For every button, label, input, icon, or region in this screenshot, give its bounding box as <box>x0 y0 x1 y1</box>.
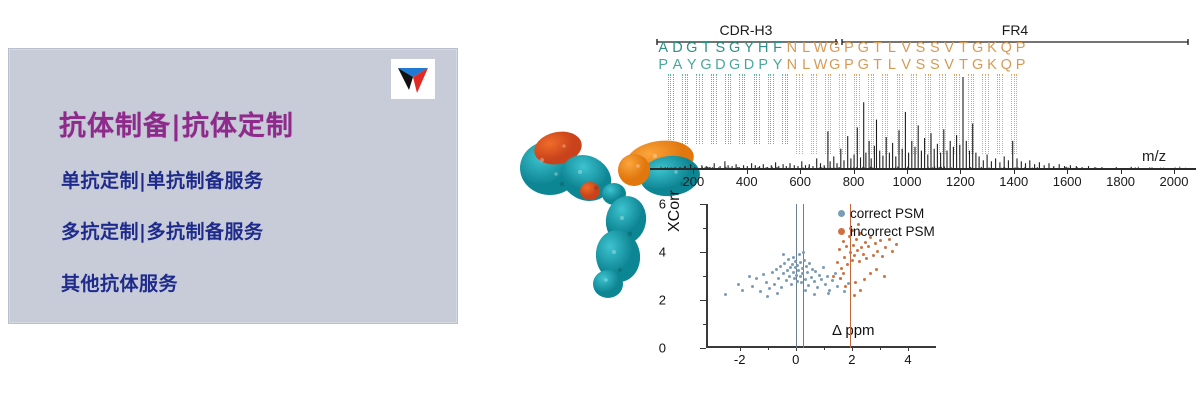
tricolor-arrow-logo-icon <box>396 64 430 94</box>
residue: L <box>885 40 899 56</box>
residue: W <box>813 40 827 56</box>
scatter-x-tick-label: 0 <box>792 352 799 367</box>
scatter-point <box>741 289 744 292</box>
residue: G <box>699 57 713 73</box>
scatter-point <box>838 248 841 251</box>
mz-tick-label: 200 <box>683 174 705 189</box>
mz-axis-ticks: 200400600800100012001400160018002000 <box>650 170 1196 188</box>
scatter-point <box>780 286 783 289</box>
residue: H <box>756 40 770 56</box>
promo-link-polyclonal[interactable]: 多抗定制|多抗制备服务 <box>61 217 263 244</box>
scatter-y-tick-label: 0 <box>659 341 666 356</box>
residue: L <box>799 57 813 73</box>
residue: P <box>656 57 670 73</box>
scatter-point <box>853 254 856 257</box>
scatter-point <box>847 282 850 285</box>
scatter-point <box>759 290 762 293</box>
scatter-point <box>891 250 894 253</box>
mass-spectrum-plot <box>656 74 1190 170</box>
mass-spectrum-peaks <box>656 74 1190 170</box>
residue: D <box>713 57 727 73</box>
scatter-point <box>799 275 802 278</box>
scatter-y-tick <box>700 348 706 349</box>
scatter-legend: correct PSMincorrect PSM <box>838 204 958 240</box>
scatter-point <box>724 293 727 296</box>
legend-label: correct PSM <box>850 206 924 221</box>
scatter-point <box>802 251 805 254</box>
scatter-point <box>872 254 875 257</box>
scatter-point <box>795 274 798 277</box>
residue: G <box>971 40 985 56</box>
scatter-point <box>808 262 811 265</box>
scatter-point <box>789 266 792 269</box>
scatter-point <box>852 244 855 247</box>
scatter-point <box>762 273 765 276</box>
scatter-point <box>773 283 776 286</box>
residue: Q <box>999 57 1013 73</box>
legend-label: incorrect PSM <box>850 224 935 239</box>
residue: W <box>813 57 827 73</box>
residue: K <box>985 57 999 73</box>
scatter-point <box>843 256 846 259</box>
scatter-point <box>792 271 795 274</box>
residue: S <box>913 57 927 73</box>
scatter-point <box>766 295 769 298</box>
residue: K <box>985 40 999 56</box>
scatter-point <box>813 293 816 296</box>
scatter-point <box>803 259 806 262</box>
scatter-point <box>776 292 779 295</box>
scatter-point <box>796 264 799 267</box>
residue: G <box>828 40 842 56</box>
scatter-point <box>751 285 754 288</box>
scatter-point <box>791 263 794 266</box>
scatter-point <box>779 265 782 268</box>
mz-tick-label: 2000 <box>1160 174 1189 189</box>
scatter-point <box>875 268 878 271</box>
scatter-point <box>876 250 879 253</box>
scatter-point <box>737 283 740 286</box>
scatter-point <box>785 279 788 282</box>
promo-link-monoclonal[interactable]: 单抗定制|单抗制备服务 <box>61 166 263 193</box>
scatter-point <box>807 284 810 287</box>
scatter-point <box>836 285 839 288</box>
mz-tick-label: 400 <box>736 174 758 189</box>
residue: G <box>727 57 741 73</box>
residue: V <box>942 57 956 73</box>
scatter-point <box>853 294 856 297</box>
residue: V <box>899 40 913 56</box>
residue: D <box>742 57 756 73</box>
scatter-point <box>768 287 771 290</box>
residue: V <box>942 40 956 56</box>
residue: L <box>885 57 899 73</box>
residue: G <box>727 40 741 56</box>
scatter-point <box>843 290 846 293</box>
scatter-point <box>851 259 854 262</box>
scatter-point <box>854 281 857 284</box>
scatter-point <box>788 275 791 278</box>
scatter-y-tick-label: 2 <box>659 293 666 308</box>
scatter-point <box>748 275 751 278</box>
mz-tick-label: 1200 <box>946 174 975 189</box>
mz-tick-label: 1800 <box>1106 174 1135 189</box>
residue: A <box>670 57 684 73</box>
scatter-point <box>839 277 842 280</box>
scatter-point <box>842 272 845 275</box>
scatter-y-tick-label: 4 <box>659 245 666 260</box>
residue: V <box>899 57 913 73</box>
scatter-point <box>796 280 799 283</box>
scatter-point <box>840 267 843 270</box>
scatter-point <box>867 245 870 248</box>
scatter-point <box>824 283 827 286</box>
mz-tick-label: 1400 <box>999 174 1028 189</box>
residue: T <box>956 40 970 56</box>
scatter-point <box>827 292 830 295</box>
mz-tick-label: 1600 <box>1053 174 1082 189</box>
scatter-point <box>856 249 859 252</box>
scatter-point <box>884 246 887 249</box>
scatter-point <box>794 260 797 263</box>
scatter-point <box>804 278 807 281</box>
scatter-point <box>845 245 848 248</box>
residue: P <box>1013 57 1027 73</box>
scatter-point <box>765 281 768 284</box>
residue: F <box>770 40 784 56</box>
residue: Q <box>999 40 1013 56</box>
scatter-point <box>804 289 807 292</box>
scatter-x-tick-label: -2 <box>734 352 746 367</box>
residue: G <box>856 40 870 56</box>
legend-dot-icon <box>838 228 845 235</box>
legend-item: incorrect PSM <box>838 222 958 240</box>
residue: P <box>842 57 856 73</box>
scatter-point <box>775 268 778 271</box>
residue: P <box>756 57 770 73</box>
scatter-point <box>783 262 786 265</box>
scatter-point <box>782 272 785 275</box>
peptide-sequence-row-1: ADGTSGYHFNLWGPGTLVSSVTGKQP <box>656 40 1028 57</box>
scatter-point <box>895 243 898 246</box>
scatter-point <box>800 281 803 284</box>
scatter-x-tick-label: 2 <box>848 352 855 367</box>
scatter-point <box>863 278 866 281</box>
scatter-point <box>798 253 801 256</box>
scatter-point <box>865 257 868 260</box>
scatter-point <box>844 285 847 288</box>
scatter-point <box>831 279 834 282</box>
scatter-point <box>818 274 821 277</box>
scatter-point <box>864 241 867 244</box>
scatter-point <box>755 277 758 280</box>
legend-dot-icon <box>838 210 845 217</box>
scatter-x-tick-label: 4 <box>904 352 911 367</box>
scatter-point <box>849 251 852 254</box>
scatter-point <box>782 253 785 256</box>
screenshot-root: 抗体制备|抗体定制 单抗定制|单抗制备服务 多抗定制|多抗制备服务 其他抗体服务 <box>0 0 1200 400</box>
promo-link-other-services[interactable]: 其他抗体服务 <box>61 269 178 296</box>
scatter-point <box>816 286 819 289</box>
scatter-point <box>832 275 835 278</box>
scatter-point <box>810 276 813 279</box>
scatter-y-tick-label: 6 <box>659 197 666 212</box>
region-label-cdr-h3: CDR-H3 <box>656 22 836 38</box>
scatter-point <box>881 255 884 258</box>
scatter-point <box>814 270 817 273</box>
residue: S <box>713 40 727 56</box>
residue: A <box>656 40 670 56</box>
antibody-sequencing-figure: CDR-H3 FR4 ADGTSGYHFNLWGPGTLVSSVTGKQP PA… <box>470 0 1200 400</box>
residue: Y <box>770 57 784 73</box>
scatter-point <box>805 265 808 268</box>
residue: G <box>856 57 870 73</box>
scatter-point <box>787 258 790 261</box>
scatter-point <box>792 256 795 259</box>
residue: L <box>799 40 813 56</box>
residue: N <box>785 40 799 56</box>
scatter-point <box>883 275 886 278</box>
scatter-point <box>869 272 872 275</box>
company-logo <box>391 59 435 99</box>
residue: Y <box>742 40 756 56</box>
scatter-point <box>786 269 789 272</box>
residue: P <box>1013 40 1027 56</box>
scatter-point <box>846 263 849 266</box>
residue: D <box>670 40 684 56</box>
peptide-sequence-row-2: PAYGDGDPYNLWGPGTLVSSVTGKQP <box>656 57 1028 74</box>
scatter-point <box>836 261 839 264</box>
residue: G <box>828 57 842 73</box>
scatter-point <box>826 275 829 278</box>
residue: S <box>913 40 927 56</box>
residue: Y <box>685 57 699 73</box>
scatter-point <box>799 261 802 264</box>
residue: T <box>956 57 970 73</box>
scatter-point <box>801 267 804 270</box>
residue: T <box>870 57 884 73</box>
residue: T <box>870 40 884 56</box>
scatter-point <box>790 283 793 286</box>
mz-tick-label: 600 <box>789 174 811 189</box>
residue: P <box>842 40 856 56</box>
scatter-point <box>822 266 825 269</box>
antibody-service-promo-panel[interactable]: 抗体制备|抗体定制 单抗定制|单抗制备服务 多抗定制|多抗制备服务 其他抗体服务 <box>8 48 458 324</box>
mz-axis-label: m/z <box>1142 148 1166 165</box>
residue: N <box>785 57 799 73</box>
scatter-point <box>858 260 861 263</box>
scatter-point <box>771 271 774 274</box>
scatter-point <box>874 242 877 245</box>
page-title: 抗体制备|抗体定制 <box>59 104 294 143</box>
scatter-point <box>862 253 865 256</box>
xcorr-ppm-scatter-plot: XCorr Δ ppm 0246-2024 correct PSMincorre… <box>670 196 940 371</box>
mz-tick-label: 800 <box>843 174 865 189</box>
mz-tick-label: 1000 <box>893 174 922 189</box>
scatter-point <box>860 246 863 249</box>
residue: S <box>928 57 942 73</box>
scatter-point <box>813 280 816 283</box>
scatter-point <box>777 277 780 280</box>
legend-item: correct PSM <box>838 204 958 222</box>
residue: G <box>685 40 699 56</box>
region-label-fr4: FR4 <box>842 22 1188 38</box>
scatter-point <box>806 271 809 274</box>
scatter-point <box>797 269 800 272</box>
residue: T <box>699 40 713 56</box>
residue: G <box>971 57 985 73</box>
scatter-point <box>801 272 804 275</box>
scatter-point <box>859 289 862 292</box>
scatter-point <box>820 278 823 281</box>
residue: S <box>928 40 942 56</box>
scatter-y-axis-label: XCorr <box>666 190 684 232</box>
